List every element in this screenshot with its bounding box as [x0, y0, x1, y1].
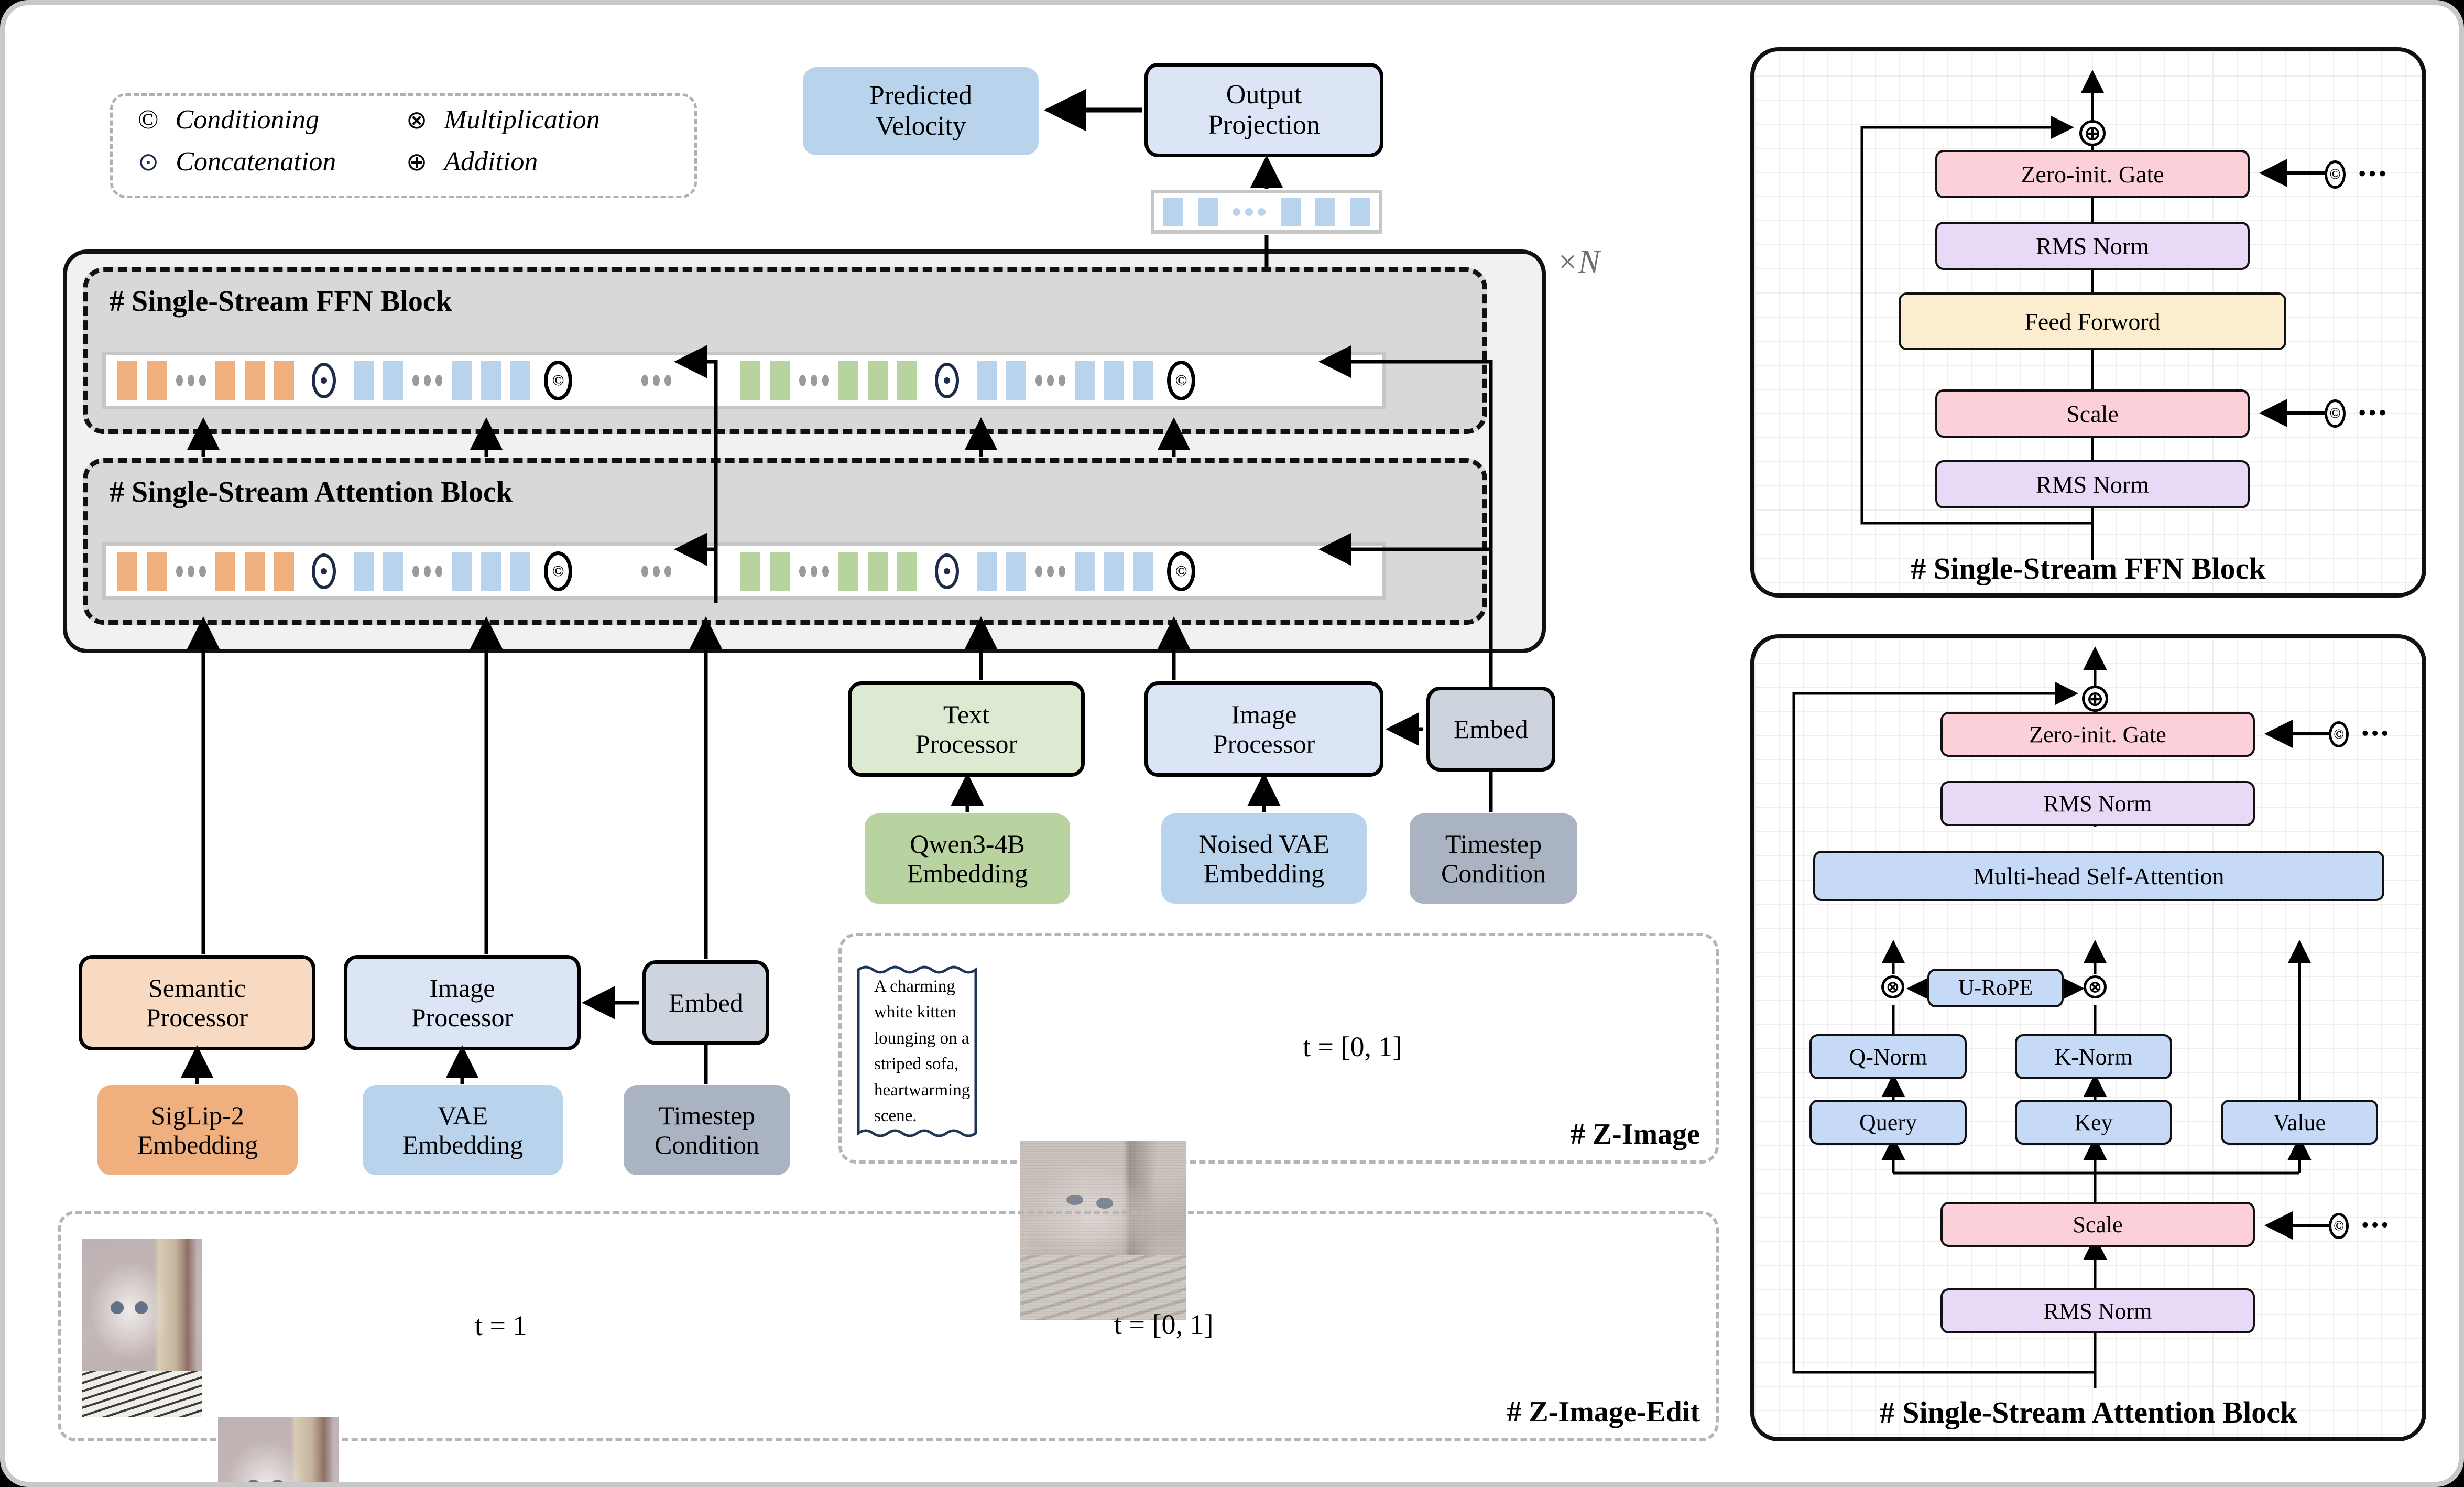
text-token [274, 361, 294, 400]
z-image-title: # Z-Image [1571, 1117, 1700, 1151]
image-token [977, 361, 997, 400]
ffn-detail-panel: ⊕ Zero-init. Gate © ••• RMS Norm Feed Fo… [1750, 47, 2426, 598]
output-projection-line2: Projection [1208, 110, 1320, 140]
value-box: Value [2221, 1100, 2378, 1145]
predicted-velocity-line2: Velocity [869, 111, 972, 142]
image-processor-box-mid: Image Processor [1144, 681, 1383, 777]
image-token [354, 552, 374, 591]
semantic-processor-box: Semantic Processor [79, 955, 315, 1050]
ffn-panel-title: # Single-Stream FFN Block [1754, 551, 2422, 586]
conditioning-symbol-icon: © [544, 361, 572, 400]
text-token [117, 552, 137, 591]
legend-item-addition: ⊕ Addition [406, 146, 538, 177]
output-token [1163, 198, 1183, 226]
legend-box: © Conditioning ⊗ Multiplication ⊙ Concat… [110, 93, 697, 198]
legend-label-concatenation: Concatenation [176, 146, 336, 177]
embed-box-left: Embed [642, 960, 769, 1045]
timestep-line1: Timestep [1441, 829, 1546, 859]
timestep-condition-box-mid: Timestep Condition [1410, 813, 1577, 904]
ellipsis-dots-icon [1035, 566, 1065, 577]
key-box: Key [2015, 1100, 2172, 1145]
image-token [510, 361, 530, 400]
ffn-row-label: Feed Forword [2024, 308, 2160, 335]
ellipsis-dots-icon [176, 375, 206, 386]
text-token [147, 552, 167, 591]
image-token [383, 552, 403, 591]
semantic-token [868, 361, 888, 400]
attention-zero-init-gate: Zero-init. Gate [1940, 712, 2255, 757]
attention-cond-dots-bottom: ••• [2361, 1213, 2391, 1238]
semantic-token [868, 552, 888, 591]
u-rope-box: U-RoPE [1927, 969, 2064, 1007]
output-projection-box: Output Projection [1144, 63, 1383, 157]
addition-symbol-icon: ⊕ [2082, 686, 2108, 712]
legend-item-concatenation: ⊙ Concatenation [138, 146, 336, 177]
output-token [1198, 198, 1218, 226]
text-token [274, 552, 294, 591]
ellipsis-dots-icon [641, 566, 671, 577]
concatenation-symbol-icon [312, 363, 336, 398]
output-token-strip [1151, 190, 1382, 234]
image-token [1075, 361, 1095, 400]
conditioning-symbol-icon: © [2329, 1213, 2349, 1239]
image-token [1104, 361, 1124, 400]
siglip2-embedding-box: SigLip-2 Embedding [97, 1085, 298, 1175]
qwen-line1: Qwen3-4B [907, 829, 1028, 859]
attention-block-title: # Single-Stream Attention Block [110, 475, 513, 509]
legend-label-addition: Addition [444, 146, 538, 177]
embed-label: Embed [1454, 714, 1528, 744]
image-token [1006, 361, 1026, 400]
conditioning-symbol-icon: © [1167, 361, 1195, 400]
concatenation-symbol-icon: ⊙ [138, 147, 159, 177]
image-processor-line1: Image [411, 973, 513, 1003]
ffn-row-label: Scale [2066, 400, 2119, 428]
addition-symbol-icon: ⊕ [2079, 120, 2106, 146]
q-norm-box: Q-Norm [1809, 1034, 1967, 1079]
ellipsis-dots-icon [412, 566, 442, 577]
output-projection-line1: Output [1208, 80, 1320, 110]
ffn-cond-dots-top: ••• [2358, 160, 2389, 187]
z-image-edit-t-label-right: t = [0, 1] [1114, 1308, 1213, 1341]
conditioning-symbol-icon: © [2329, 721, 2349, 747]
z-image-edit-input-image-1 [82, 1239, 202, 1417]
ellipsis-dots-icon [799, 566, 829, 577]
concatenation-symbol-icon [935, 553, 959, 589]
text-processor-line2: Processor [915, 729, 1017, 758]
concatenation-symbol-icon [935, 363, 959, 398]
ffn-row-label: Zero-init. Gate [2021, 160, 2164, 188]
qwen-line2: Embedding [907, 859, 1028, 888]
ellipsis-dots-icon [1233, 208, 1266, 216]
attention-scale-box: Scale [1940, 1202, 2255, 1247]
multiplication-symbol-icon: ⊗ [2084, 975, 2107, 998]
ffn-row-scale: Scale [1935, 389, 2250, 438]
legend-item-multiplication: ⊗ Multiplication [406, 104, 600, 135]
ffn-block-title: # Single-Stream FFN Block [110, 285, 452, 318]
image-token [510, 552, 530, 591]
ellipsis-dots-icon [641, 375, 671, 386]
z-image-edit-title: # Z-Image-Edit [1507, 1395, 1700, 1429]
diagram-canvas: © Conditioning ⊗ Multiplication ⊙ Concat… [0, 0, 2464, 1487]
z-image-t-label: t = [0, 1] [1303, 1030, 1402, 1063]
legend-label-multiplication: Multiplication [444, 104, 600, 135]
conditioning-symbol-icon: © [1167, 551, 1195, 591]
z-image-edit-input-image-2 [218, 1417, 339, 1487]
z-image-edit-panel: t = 1 Repose the cat on the striped sofa… [58, 1211, 1719, 1441]
semantic-token [838, 361, 858, 400]
image-token [481, 552, 501, 591]
vae-embedding-box: VAE Embedding [363, 1085, 563, 1175]
ffn-row-label: RMS Norm [2036, 232, 2149, 260]
image-token [354, 361, 374, 400]
z-image-prompt-card: A charming white kitten lounging on a st… [856, 962, 978, 1141]
ffn-row-rms-norm-upper: RMS Norm [1935, 222, 2250, 270]
concatenation-symbol-icon [312, 553, 336, 589]
image-token [977, 552, 997, 591]
semantic-token [740, 361, 760, 400]
conditioning-symbol-icon: © [544, 551, 572, 591]
predicted-velocity-box: Predicted Velocity [803, 67, 1039, 155]
z-image-prompt-text: A charming white kitten lounging on a st… [874, 974, 970, 1130]
ellipsis-dots-icon [799, 375, 829, 386]
z-image-panel: A charming white kitten lounging on a st… [838, 933, 1719, 1164]
attention-block-band: # Single-Stream Attention Block © [83, 458, 1487, 625]
embed-box-mid: Embed [1426, 687, 1555, 772]
text-token [215, 552, 235, 591]
semantic-token [770, 552, 790, 591]
image-token [481, 361, 501, 400]
semantic-token [838, 552, 858, 591]
semantic-processor-line2: Processor [146, 1003, 248, 1032]
semantic-token [770, 361, 790, 400]
image-token [1006, 552, 1026, 591]
conditioning-symbol-icon: © [138, 104, 159, 135]
vae-line2: Embedding [402, 1130, 524, 1159]
attention-rms-norm-top: RMS Norm [1940, 781, 2255, 826]
text-token [147, 361, 167, 400]
image-token [383, 361, 403, 400]
attention-token-strip: © © [102, 542, 1386, 600]
multiplication-symbol-icon: ⊗ [406, 105, 427, 135]
ellipsis-dots-icon [1035, 375, 1065, 386]
ffn-row-rms-norm-lower: RMS Norm [1935, 460, 2250, 508]
ffn-token-strip: © © [102, 352, 1386, 409]
text-token [245, 361, 265, 400]
image-processor-box-left: Image Processor [344, 955, 581, 1050]
conditioning-symbol-icon: © [2325, 160, 2346, 189]
attention-rms-norm-bottom: RMS Norm [1940, 1288, 2255, 1333]
k-norm-box: K-Norm [2015, 1034, 2172, 1079]
image-processor-line1: Image [1213, 700, 1315, 729]
output-token [1315, 198, 1335, 226]
image-token [1104, 552, 1124, 591]
qwen3-embedding-box: Qwen3-4B Embedding [865, 813, 1070, 904]
ellipsis-dots-icon [176, 566, 206, 577]
semantic-token [740, 552, 760, 591]
ffn-row-feed-forword: Feed Forword [1899, 292, 2286, 350]
timestep-line1: Timestep [655, 1101, 759, 1130]
ffn-cond-dots-bottom: ••• [2358, 399, 2389, 426]
timestep-line2: Condition [655, 1130, 759, 1159]
addition-symbol-icon: ⊕ [406, 147, 427, 177]
output-token [1350, 198, 1370, 226]
image-processor-line2: Processor [1213, 729, 1315, 758]
text-token [117, 361, 137, 400]
vae-line1: VAE [402, 1101, 524, 1130]
ffn-block-band: # Single-Stream FFN Block © [83, 267, 1487, 434]
attention-panel-title: # Single-Stream Attention Block [1754, 1395, 2422, 1430]
query-box: Query [1809, 1100, 1967, 1145]
timestep-line2: Condition [1441, 859, 1546, 888]
image-token [1133, 552, 1153, 591]
image-token [452, 552, 472, 591]
noised-vae-embedding-box: Noised VAE Embedding [1161, 813, 1367, 904]
ffn-row-zero-init-gate: Zero-init. Gate [1935, 150, 2250, 198]
output-token [1281, 198, 1301, 226]
image-token [1075, 552, 1095, 591]
siglip-line2: Embedding [137, 1130, 258, 1159]
image-token [452, 361, 472, 400]
timestep-condition-box-left: Timestep Condition [624, 1085, 790, 1175]
noised-vae-line2: Embedding [1198, 859, 1329, 888]
legend-label-conditioning: Conditioning [176, 104, 319, 135]
multiplication-symbol-icon: ⊗ [1881, 975, 1904, 998]
semantic-token [897, 361, 917, 400]
attention-detail-panel: ⊕ Zero-init. Gate © ••• RMS Norm Multi-h… [1750, 634, 2426, 1441]
text-processor-box: Text Processor [848, 681, 1085, 777]
attention-cond-dots-top: ••• [2361, 721, 2391, 746]
semantic-processor-line1: Semantic [146, 973, 248, 1003]
noised-vae-line1: Noised VAE [1198, 829, 1329, 859]
text-processor-line1: Text [915, 700, 1017, 729]
predicted-velocity-line1: Predicted [869, 81, 972, 111]
siglip-line1: SigLip-2 [137, 1101, 258, 1130]
multi-head-self-attention-box: Multi-head Self-Attention [1813, 851, 2384, 901]
z-image-edit-t-label-left: t = 1 [475, 1309, 527, 1342]
text-token [215, 361, 235, 400]
ellipsis-dots-icon [412, 375, 442, 386]
image-token [1133, 361, 1153, 400]
conditioning-symbol-icon: © [2325, 399, 2346, 428]
text-token [245, 552, 265, 591]
embed-label: Embed [669, 988, 743, 1017]
semantic-token [897, 552, 917, 591]
ffn-row-label: RMS Norm [2036, 471, 2149, 498]
image-processor-line2: Processor [411, 1003, 513, 1032]
stack-repeat-label: ×N [1556, 244, 1600, 281]
legend-item-conditioning: © Conditioning [138, 104, 319, 135]
